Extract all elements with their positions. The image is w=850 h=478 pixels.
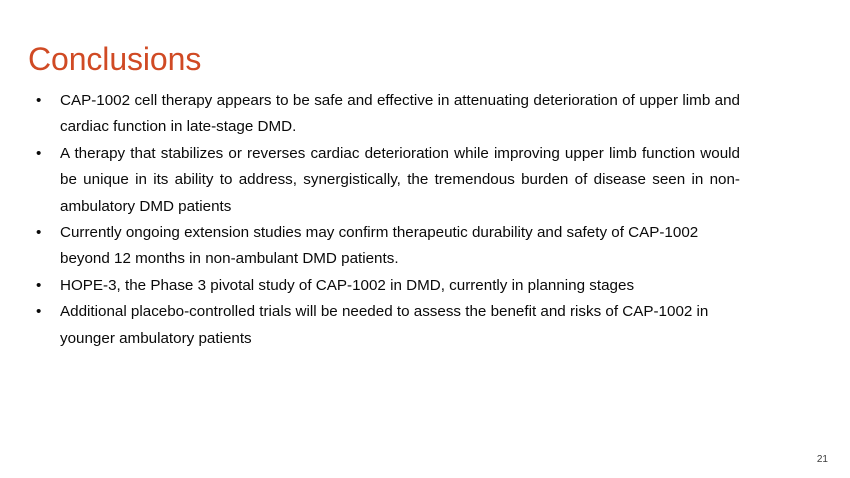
bullet-point-icon: •: [36, 273, 50, 299]
bullet-point-icon: •: [36, 299, 50, 325]
bullet-point-icon: •: [36, 141, 50, 167]
page-title: Conclusions: [28, 40, 201, 78]
conclusions-bullet-list: • CAP-1002 cell therapy appears to be sa…: [30, 88, 740, 352]
list-item: • Currently ongoing extension studies ma…: [30, 220, 740, 273]
list-item: • A therapy that stabilizes or reverses …: [30, 141, 740, 220]
list-item-text: Currently ongoing extension studies may …: [60, 220, 740, 273]
list-item-text: Additional placebo-controlled trials wil…: [60, 299, 740, 352]
page-number: 21: [817, 454, 828, 466]
list-item: • CAP-1002 cell therapy appears to be sa…: [30, 88, 740, 141]
list-item-text: HOPE-3, the Phase 3 pivotal study of CAP…: [60, 273, 740, 299]
slide-canvas: Conclusions • CAP-1002 cell therapy appe…: [0, 0, 850, 478]
list-item-text: A therapy that stabilizes or reverses ca…: [60, 141, 740, 220]
bullet-point-icon: •: [36, 88, 50, 114]
list-item-text: CAP-1002 cell therapy appears to be safe…: [60, 88, 740, 141]
bullet-point-icon: •: [36, 220, 50, 246]
list-item: • Additional placebo-controlled trials w…: [30, 299, 740, 352]
list-item: • HOPE-3, the Phase 3 pivotal study of C…: [30, 273, 740, 299]
